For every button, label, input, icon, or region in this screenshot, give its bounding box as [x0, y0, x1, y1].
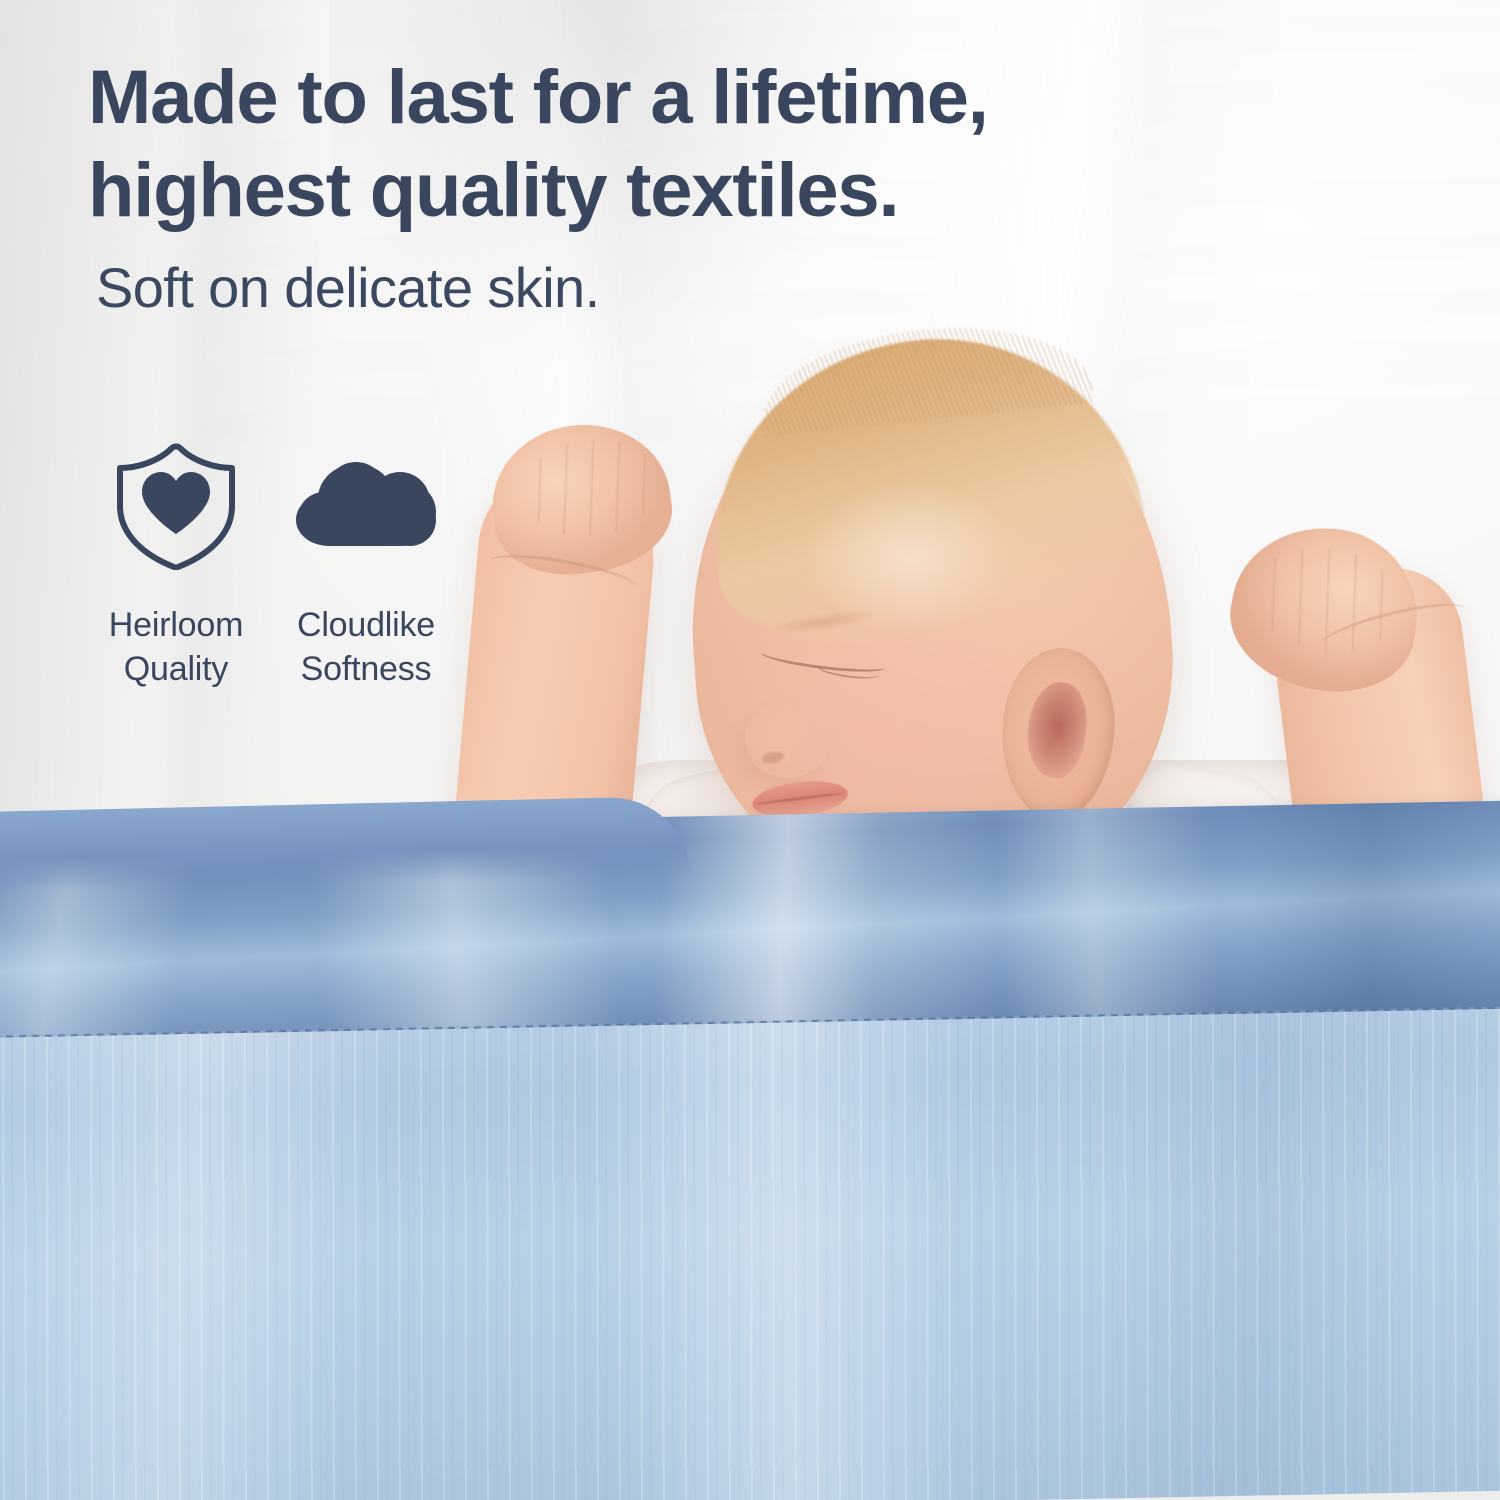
feature-cloudlike-softness: Cloudlike Softness [282, 442, 450, 691]
headline: Made to last for a lifetime, highest qua… [88, 52, 1228, 237]
subheadline: Soft on delicate skin. [96, 253, 1228, 323]
heart-shape [142, 472, 210, 534]
product-feature-banner: Made to last for a lifetime, highest qua… [0, 0, 1500, 1500]
cloud-icon-svg [290, 458, 442, 554]
feature-label-cloudlike-softness: Cloudlike Softness [297, 604, 435, 691]
cloud-puff-right [384, 494, 436, 546]
marketing-copy: Made to last for a lifetime, highest qua… [88, 52, 1228, 323]
feature-heirloom-quality: Heirloom Quality [92, 442, 260, 691]
feature-label-heirloom-quality: Heirloom Quality [109, 604, 243, 691]
feature-badges: Heirloom Quality Cloudlike Softness [92, 442, 450, 691]
baby-nose [745, 700, 831, 778]
cloud-icon [290, 442, 442, 570]
blanket-body [0, 1008, 1500, 1500]
shield-heart-icon-svg [114, 442, 238, 570]
shield-heart-icon [114, 442, 238, 570]
satin-trim-fold [0, 796, 691, 892]
blanket-fabric-texture [0, 1008, 1500, 1500]
blanket [0, 830, 1500, 1500]
